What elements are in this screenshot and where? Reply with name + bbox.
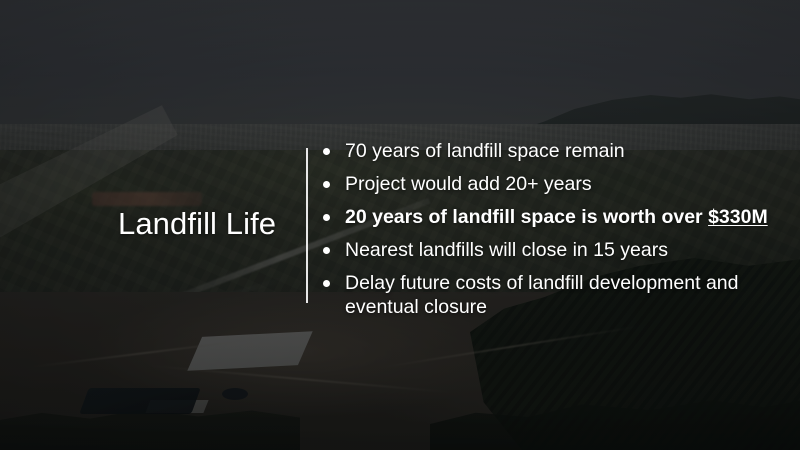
vertical-divider	[306, 148, 308, 303]
list-item: Delay future costs of landfill developme…	[318, 271, 798, 319]
bullet-text-underlined: $330M	[708, 206, 768, 228]
slide-content: Landfill Life 70 years of landfill space…	[0, 0, 800, 450]
bullet-text: Project would add 20+ years	[345, 173, 592, 195]
list-item: Project would add 20+ years	[318, 172, 798, 196]
list-item-highlighted: 20 years of landfill space is worth over…	[318, 205, 798, 229]
bullet-text: 20 years of landfill space is worth over	[345, 206, 708, 228]
bullet-text: 70 years of landfill space remain	[345, 140, 625, 162]
bullet-text: Delay future costs of landfill developme…	[345, 272, 738, 318]
list-item: 70 years of landfill space remain	[318, 139, 798, 163]
presentation-slide: Landfill Life 70 years of landfill space…	[0, 0, 800, 450]
bullet-list: 70 years of landfill space remain Projec…	[318, 139, 798, 328]
slide-title: Landfill Life	[118, 206, 276, 242]
bullet-text: Nearest landfills will close in 15 years	[345, 239, 668, 261]
list-item: Nearest landfills will close in 15 years	[318, 238, 798, 262]
